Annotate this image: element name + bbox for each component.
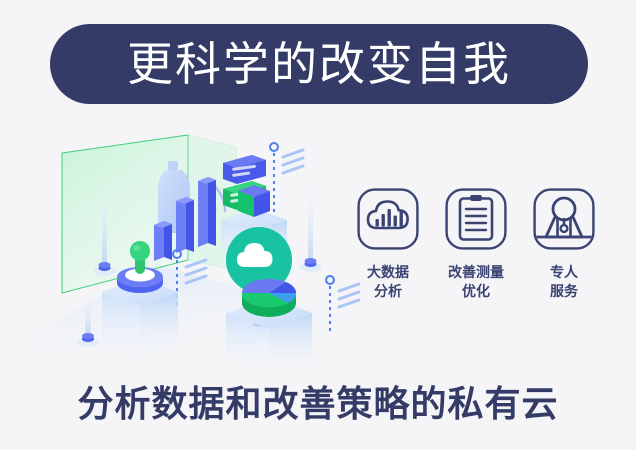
feature-label-line2: 服务 xyxy=(528,283,600,302)
footer-tagline: 分析数据和改善策略的私有云 xyxy=(0,383,636,427)
feature-label-line1: 专人 xyxy=(528,264,600,283)
marker-post-right xyxy=(300,185,322,272)
feature-label-measurement: 改善测量 优化 xyxy=(440,264,512,302)
clipboard-icon xyxy=(445,188,507,250)
page-title: 更科学的改变自我 xyxy=(127,41,511,87)
feature-label-big-data: 大数据 分析 xyxy=(352,264,424,302)
feature-item-measurement: 改善测量 优化 xyxy=(440,188,512,302)
support-agent-icon xyxy=(533,188,595,250)
promo-banner: 更科学的改变自我 xyxy=(0,0,636,450)
feature-label-line1: 大数据 xyxy=(352,264,424,283)
cloud-bar-chart-icon xyxy=(357,188,419,250)
feature-label-line1: 改善测量 xyxy=(440,264,512,283)
hero-illustration xyxy=(40,125,360,370)
feature-label-line2: 分析 xyxy=(352,283,424,302)
pie-chart-3d xyxy=(242,279,296,317)
feature-item-support: 专人 服务 xyxy=(528,188,600,302)
feature-item-big-data: 大数据 分析 xyxy=(352,188,424,302)
cube-3d xyxy=(238,185,270,217)
feature-label-support: 专人 服务 xyxy=(528,264,600,302)
title-pill: 更科学的改变自我 xyxy=(50,24,588,104)
feature-list: 大数据 分析 改善测量 优化 xyxy=(352,188,600,302)
feature-label-line2: 优化 xyxy=(440,283,512,302)
